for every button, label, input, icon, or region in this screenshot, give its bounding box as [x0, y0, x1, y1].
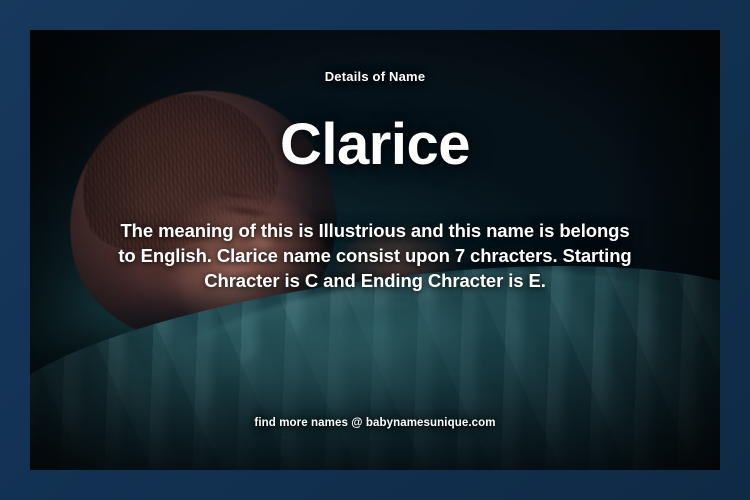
name-description: The meaning of this is Illustrious and t…	[118, 218, 632, 293]
name-title: Clarice	[30, 115, 720, 176]
site-footer-note: find more names @ babynamesunique.com	[30, 417, 720, 429]
section-kicker: Details of Name	[30, 69, 720, 84]
text-overlay: Details of Name Clarice The meaning of t…	[30, 30, 720, 470]
baby-photo: Details of Name Clarice The meaning of t…	[30, 30, 720, 470]
name-details-card: Details of Name Clarice The meaning of t…	[0, 0, 750, 500]
